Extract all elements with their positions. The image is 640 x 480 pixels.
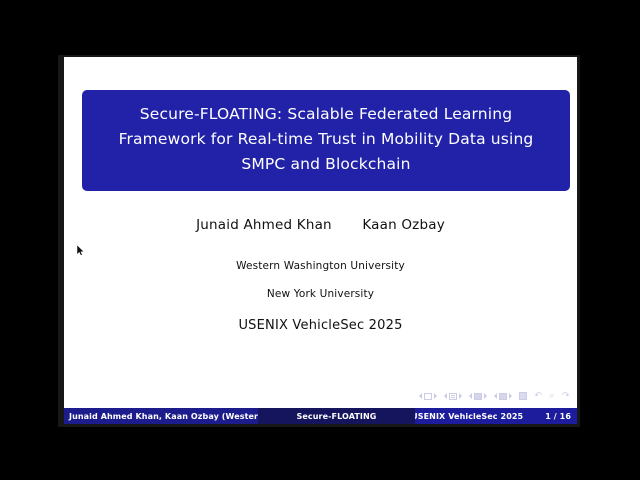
nav-section-prev-icon[interactable] — [494, 393, 497, 399]
nav-document-box-icon[interactable] — [519, 392, 527, 400]
nav-subsection-box-icon[interactable] — [474, 393, 482, 400]
nav-slide-next-icon[interactable] — [434, 393, 437, 399]
nav-back-icon[interactable]: ↶ — [534, 392, 542, 401]
footer-title-segment: Secure-FLOATING — [258, 408, 415, 424]
footer-venue-label: USENIX VehicleSec 2025 — [415, 412, 523, 421]
nav-search-icon[interactable]: ⌕ — [549, 392, 555, 401]
nav-slide-prev-icon[interactable] — [419, 393, 422, 399]
footer-author-segment: Junaid Ahmed Khan, Kaan Ozbay (Western \ — [64, 408, 258, 424]
footer-page-number: 1 / 16 — [545, 412, 571, 421]
author-name-2: Kaan Ozbay — [362, 217, 445, 233]
slide-title-line-3: SMPC and Blockchain — [241, 152, 410, 177]
nav-group-slide[interactable] — [419, 393, 437, 400]
nav-group-frame[interactable] — [444, 393, 462, 400]
author-name-1: Junaid Ahmed Khan — [196, 217, 332, 233]
slide-title-line-1: Secure-FLOATING: Scalable Federated Lear… — [140, 102, 512, 127]
nav-group-subsection[interactable] — [469, 393, 487, 400]
affiliation-1: Western Washington University — [64, 260, 577, 272]
video-stage: Secure-FLOATING: Scalable Federated Lear… — [0, 0, 640, 480]
affiliation-2: New York University — [64, 288, 577, 300]
presentation-slide: Secure-FLOATING: Scalable Federated Lear… — [64, 57, 577, 424]
slide-title-box: Secure-FLOATING: Scalable Federated Lear… — [82, 90, 570, 191]
author-list: Junaid Ahmed Khan Kaan Ozbay — [64, 217, 577, 233]
nav-subsection-next-icon[interactable] — [484, 393, 487, 399]
beamer-navigation-bar[interactable]: ↶ ⌕ ↷ — [419, 390, 570, 402]
nav-subsection-prev-icon[interactable] — [469, 393, 472, 399]
slide-title-line-2: Framework for Real-time Trust in Mobilit… — [119, 127, 534, 152]
nav-group-section[interactable] — [494, 393, 512, 400]
mouse-cursor-icon — [77, 245, 85, 256]
nav-slide-box-icon[interactable] — [424, 393, 432, 400]
nav-section-next-icon[interactable] — [509, 393, 512, 399]
slide-footer: Junaid Ahmed Khan, Kaan Ozbay (Western \… — [64, 408, 577, 424]
nav-section-box-icon[interactable] — [499, 393, 507, 400]
nav-forward-icon[interactable]: ↷ — [562, 392, 570, 401]
venue-label: USENIX VehicleSec 2025 — [64, 318, 577, 333]
nav-frame-prev-icon[interactable] — [444, 393, 447, 399]
nav-frame-next-icon[interactable] — [459, 393, 462, 399]
nav-frame-box-icon[interactable] — [449, 393, 457, 400]
footer-venue-segment: USENIX VehicleSec 2025 1 / 16 — [415, 408, 577, 424]
